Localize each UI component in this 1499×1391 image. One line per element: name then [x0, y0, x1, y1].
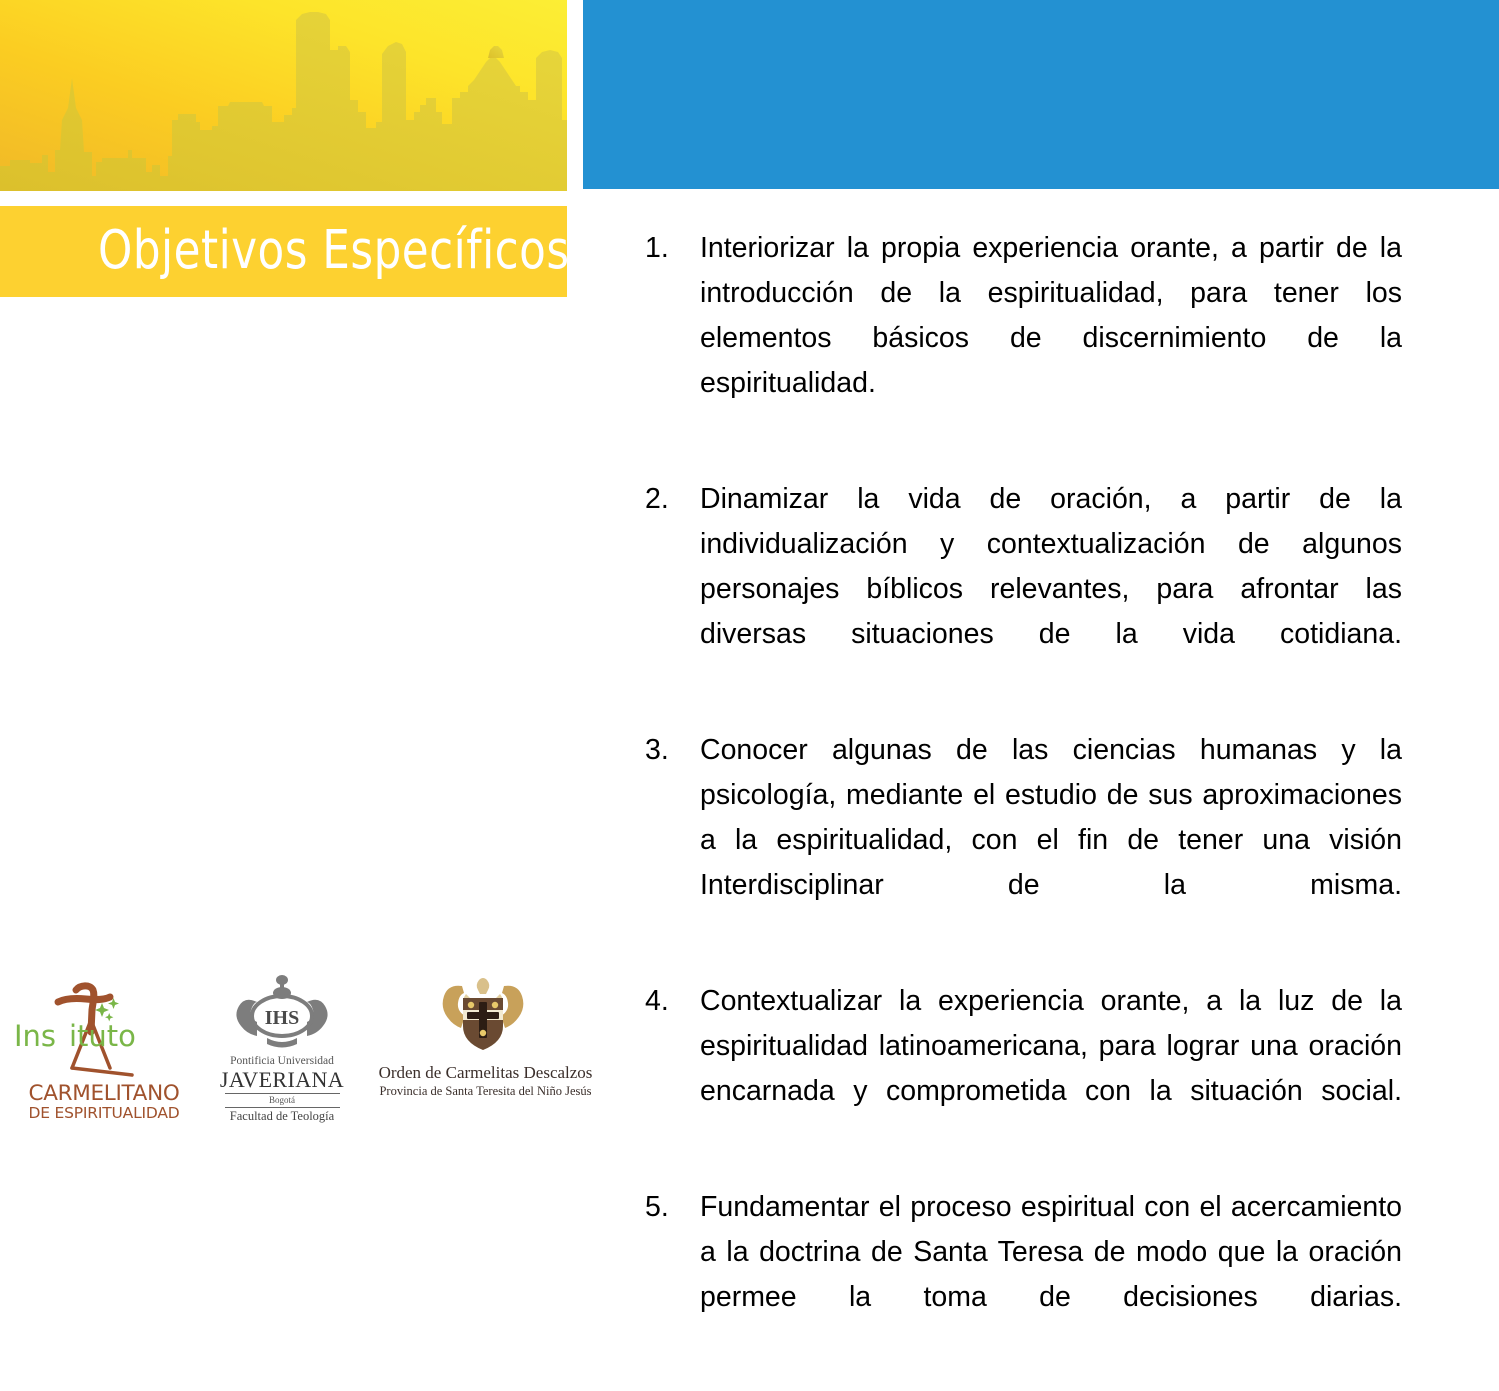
ihs-monogram: IHS: [265, 1007, 299, 1029]
list-item-number: 5.: [645, 1185, 700, 1230]
list-item: 1. Interiorizar la propia experiencia or…: [645, 226, 1402, 451]
list-item-number: 4.: [645, 979, 700, 1024]
carmelitas-descalzos-logo: Orden de Carmelitas Descalzos Provincia …: [378, 976, 593, 1099]
instituto-carmelitano-logo: Ins ituto CARMELITANO DE ESPIRITUALIDAD: [14, 980, 194, 1122]
list-item-text: Fundamentar el proceso espiritual con el…: [700, 1185, 1402, 1365]
carmelitas-logo-line1: Orden de Carmelitas Descalzos: [378, 1063, 593, 1083]
skyline-graphic-block: [0, 0, 567, 191]
list-item-text: Interiorizar la propia experiencia orant…: [700, 226, 1402, 451]
javeriana-logo-line3: Bogotá: [212, 1095, 352, 1106]
title-band: Objetivos Específicos: [0, 206, 567, 297]
list-item: 4. Contextualizar la experiencia orante,…: [645, 979, 1402, 1159]
page-title: Objetivos Específicos: [98, 218, 570, 281]
carmelitas-logo-line2: Provincia de Santa Teresita del Niño Jes…: [378, 1083, 593, 1099]
list-item: 2. Dinamizar la vida de oración, a parti…: [645, 477, 1402, 702]
city-skyline-illustration: [0, 0, 567, 191]
list-item-number: 2.: [645, 477, 700, 522]
divider: [225, 1093, 340, 1094]
list-item-number: 3.: [645, 728, 700, 773]
list-item: 3. Conocer algunas de las ciencias human…: [645, 728, 1402, 953]
instituto-logo-line3: DE ESPIRITUALIDAD: [14, 1105, 194, 1122]
javeriana-logo-line4: Facultad de Teología: [212, 1109, 352, 1124]
svg-text:Ins: Ins: [14, 1019, 56, 1053]
carmelite-shield-icon: [378, 976, 593, 1058]
javeriana-logo-line2: JAVERIANA: [212, 1068, 352, 1092]
list-item: 5. Fundamentar el proceso espiritual con…: [645, 1185, 1402, 1365]
carmelite-cross-icon: Ins ituto: [14, 980, 194, 1078]
footer-logo-row: Ins ituto CARMELITANO DE ESPIRITUALIDAD …: [0, 978, 600, 1108]
list-item-text: Dinamizar la vida de oración, a partir d…: [700, 477, 1402, 702]
javeriana-crest-icon: IHS: [212, 972, 352, 1050]
divider: [225, 1107, 340, 1108]
svg-text:ituto: ituto: [69, 1019, 136, 1053]
list-item-number: 1.: [645, 226, 700, 271]
instituto-logo-line2: CARMELITANO: [14, 1083, 194, 1105]
javeriana-university-logo: IHS Pontificia Universidad JAVERIANA Bog…: [212, 972, 352, 1124]
blue-decorative-panel: [583, 0, 1499, 189]
list-item-text: Contextualizar la experiencia orante, a …: [700, 979, 1402, 1159]
list-item-text: Conocer algunas de las ciencias humanas …: [700, 728, 1402, 953]
objectives-list: 1. Interiorizar la propia experiencia or…: [645, 226, 1402, 1391]
slide-header: [0, 0, 1499, 191]
